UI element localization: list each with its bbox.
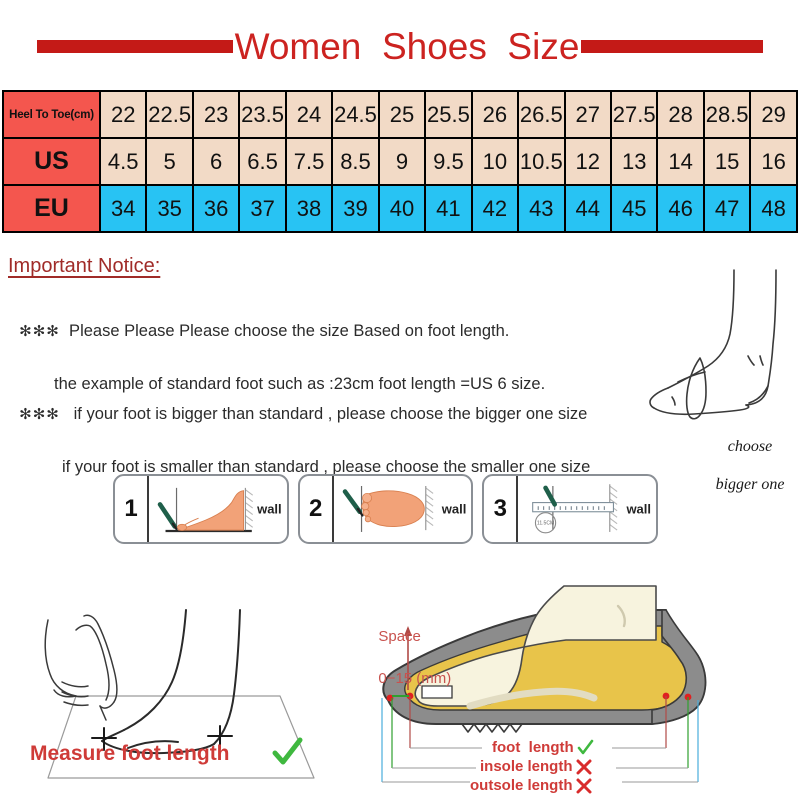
size-cell: 29	[750, 91, 797, 138]
size-cell: 36	[193, 185, 239, 232]
size-cell: 24	[286, 91, 332, 138]
size-chart-table: Heel To Toe(cm)2222.52323.52424.52525.52…	[2, 90, 798, 233]
size-cell: 16	[750, 138, 797, 185]
step-number-1: 1	[115, 476, 149, 542]
size-cell: 9	[379, 138, 425, 185]
size-cell: 39	[332, 185, 378, 232]
size-cell: 4.5	[100, 138, 146, 185]
size-cell: 41	[425, 185, 471, 232]
size-cell: 26	[472, 91, 518, 138]
notice-stars-2: ✻✻✻	[19, 406, 60, 423]
step-2-wall-label: wall	[442, 502, 467, 517]
size-cell: 43	[518, 185, 564, 232]
space-label: Space 0−15 (mm)	[370, 605, 451, 689]
size-cell: 28	[657, 91, 703, 138]
step-panel-1: 1	[113, 474, 289, 544]
table-row: US4.5566.57.58.599.51010.51213141516	[3, 138, 797, 185]
size-cell: 6.5	[239, 138, 285, 185]
size-cell: 42	[472, 185, 518, 232]
size-cell: 40	[379, 185, 425, 232]
choose-bigger-one-caption: choose bigger one	[686, 418, 800, 494]
size-cell: 24.5	[332, 91, 378, 138]
step-3-wall-label: wall	[626, 502, 651, 517]
size-cell: 26.5	[518, 91, 564, 138]
step-panel-2: 2	[298, 474, 474, 544]
step-3-illustration: 11.5CM wall	[518, 476, 656, 542]
size-cell: 25	[379, 91, 425, 138]
cross-icon	[575, 777, 593, 795]
size-chart-body: Heel To Toe(cm)2222.52323.52424.52525.52…	[3, 91, 797, 232]
size-cell: 8.5	[332, 138, 378, 185]
notice-stars-1: ✻✻✻	[19, 323, 60, 340]
page-title-text: Women Shoes Size	[235, 28, 580, 65]
notice-block-1-line-1: Please Please Please choose the size Bas…	[60, 322, 509, 340]
size-cell: 44	[565, 185, 611, 232]
size-cell: 38	[286, 185, 332, 232]
measurement-steps: 1	[113, 474, 658, 544]
title-bar-right	[581, 40, 763, 53]
page-title: Women Shoes Size	[0, 18, 800, 74]
size-cell: 10	[472, 138, 518, 185]
size-cell: 9.5	[425, 138, 471, 185]
size-cell: 13	[611, 138, 657, 185]
size-cell: 45	[611, 185, 657, 232]
size-cell: 23	[193, 91, 239, 138]
important-notice-heading: Important Notice:	[8, 255, 160, 278]
size-cell: 46	[657, 185, 703, 232]
space-label-line-1: Space	[378, 628, 421, 645]
step-1-illustration: wall	[149, 476, 287, 542]
space-label-line-2: 0−15 (mm)	[378, 670, 451, 687]
size-cell: 14	[657, 138, 703, 185]
table-row: EU343536373839404142434445464748	[3, 185, 797, 232]
notice-block-2-line-1: if your foot is bigger than standard , p…	[60, 405, 587, 423]
measurement-label-text: insole length	[480, 758, 573, 775]
shoe-measurement-labels: foot lengthinsole lengthoutsole length	[470, 738, 740, 795]
choose-caption-line-2: bigger one	[716, 476, 785, 493]
measurement-label-row: insole length	[470, 757, 740, 776]
size-cell: 48	[750, 185, 797, 232]
measurement-label-text: foot length	[492, 739, 574, 756]
size-cell: 5	[146, 138, 192, 185]
measurement-label-row: outsole length	[470, 776, 740, 795]
row-label: EU	[3, 185, 100, 232]
measurement-label-row: foot length	[470, 738, 740, 757]
size-cell: 12	[565, 138, 611, 185]
step-number-3: 3	[484, 476, 518, 542]
measure-foot-length-label: Measure foot length	[30, 742, 230, 766]
size-cell: 22	[100, 91, 146, 138]
size-cell: 25.5	[425, 91, 471, 138]
size-cell: 15	[704, 138, 750, 185]
ruler-measurement-text: 11.5CM	[537, 521, 554, 527]
cross-icon	[575, 758, 593, 776]
measurement-label-text: outsole length	[470, 777, 573, 794]
size-cell: 23.5	[239, 91, 285, 138]
title-bar-left	[37, 40, 233, 53]
size-cell: 47	[704, 185, 750, 232]
row-label: US	[3, 138, 100, 185]
step-panel-3: 3	[482, 474, 658, 544]
step-number-2: 2	[300, 476, 334, 542]
table-row: Heel To Toe(cm)2222.52323.52424.52525.52…	[3, 91, 797, 138]
size-cell: 10.5	[518, 138, 564, 185]
size-cell: 37	[239, 185, 285, 232]
size-cell: 22.5	[146, 91, 192, 138]
size-cell: 7.5	[286, 138, 332, 185]
foot-profile-illustration	[648, 252, 800, 427]
size-cell: 6	[193, 138, 239, 185]
choose-caption-line-1: choose	[728, 438, 772, 455]
check-icon	[576, 739, 594, 757]
step-1-wall-label: wall	[257, 502, 282, 517]
size-cell: 28.5	[704, 91, 750, 138]
size-cell: 27	[565, 91, 611, 138]
size-cell: 34	[100, 185, 146, 232]
row-label: Heel To Toe(cm)	[3, 91, 100, 138]
measure-check-icon	[270, 736, 304, 770]
size-cell: 35	[146, 185, 192, 232]
step-2-illustration: wall	[334, 476, 472, 542]
size-cell: 27.5	[611, 91, 657, 138]
